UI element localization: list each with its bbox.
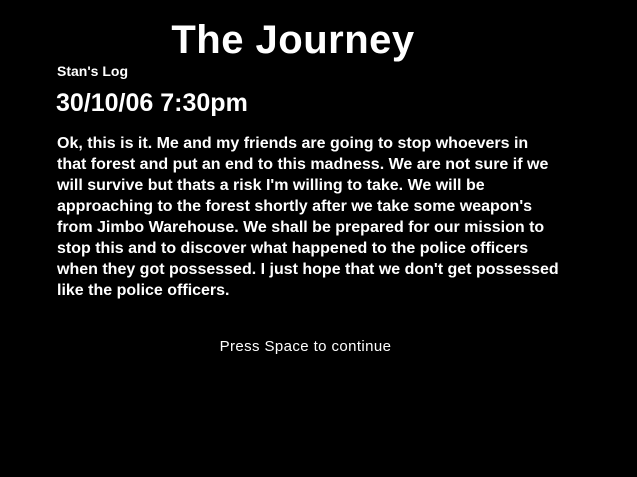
log-date: 30/10/06 7:30pm: [56, 89, 248, 117]
log-author-label: Stan's Log: [57, 63, 128, 79]
game-log-screen: The Journey Stan's Log 30/10/06 7:30pm O…: [0, 0, 637, 477]
page-title: The Journey: [0, 18, 586, 62]
log-body-text: Ok, this is it. Me and my friends are go…: [57, 133, 560, 301]
continue-prompt[interactable]: Press Space to continue: [0, 338, 611, 356]
